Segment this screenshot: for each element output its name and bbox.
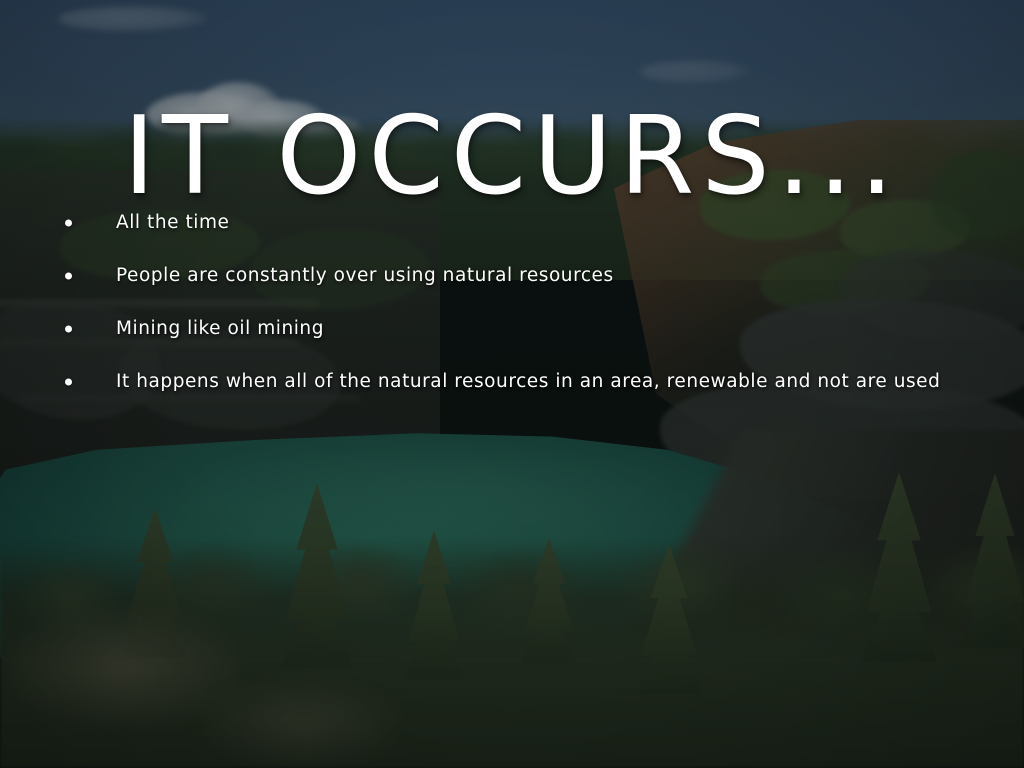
- list-item-label: It happens when all of the natural resou…: [116, 371, 940, 392]
- list-item: People are constantly over using natural…: [60, 249, 1010, 302]
- list-item: All the time: [60, 196, 1010, 249]
- slide-content: IT OCCURS... All the time People are con…: [0, 0, 1024, 768]
- bullet-point-icon: [65, 272, 72, 279]
- bullet-point-icon: [65, 219, 72, 226]
- list-item-label: People are constantly over using natural…: [116, 265, 614, 286]
- bullet-list: All the time People are constantly over …: [60, 196, 1010, 408]
- list-item-label: All the time: [116, 212, 229, 233]
- list-item: It happens when all of the natural resou…: [60, 355, 1010, 408]
- list-item-label: Mining like oil mining: [116, 318, 324, 339]
- bullet-point-icon: [65, 378, 72, 385]
- presentation-slide: IT OCCURS... All the time People are con…: [0, 0, 1024, 768]
- list-item: Mining like oil mining: [60, 302, 1010, 355]
- bullet-point-icon: [65, 325, 72, 332]
